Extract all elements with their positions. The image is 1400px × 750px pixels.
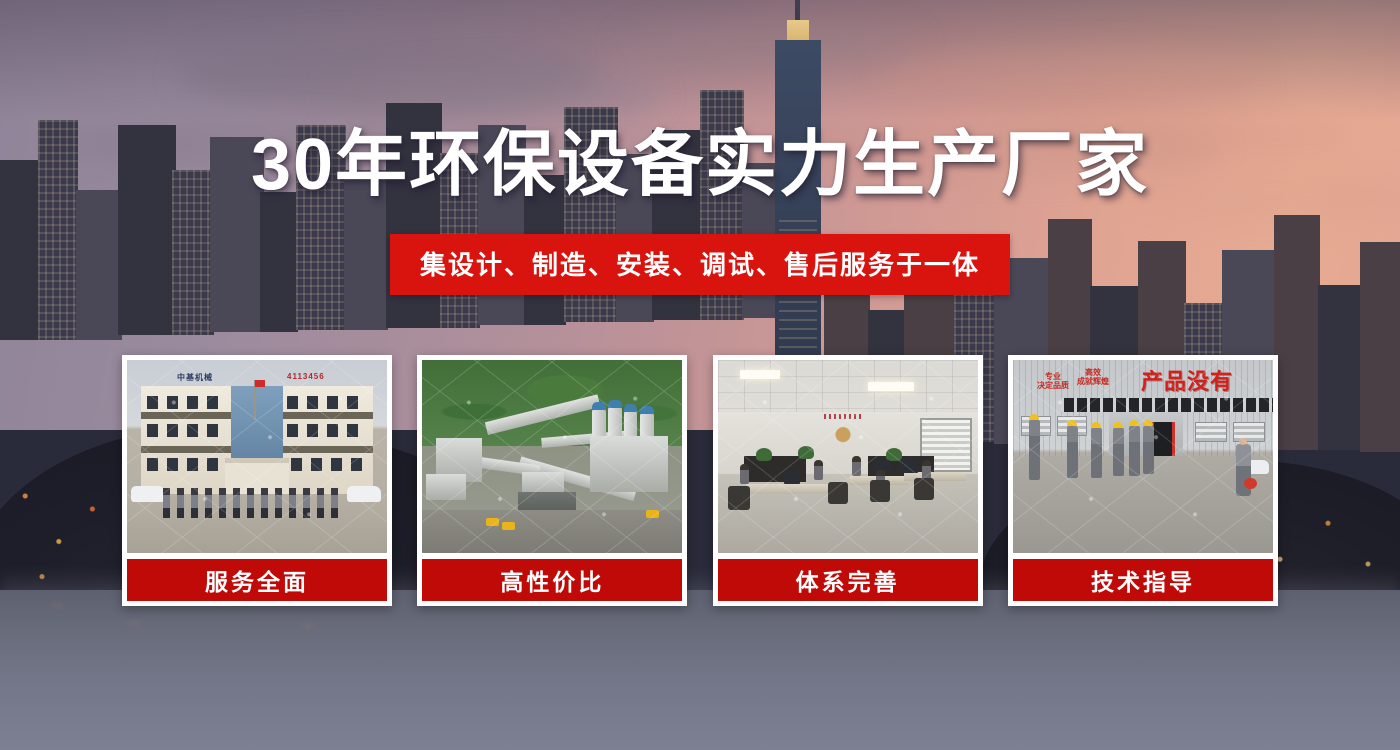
feature-card[interactable]: 体系完善 [713,355,983,606]
factory-slogan-2: 高效 成就辉煌 [1077,368,1109,386]
promo-banner: 30年环保设备实力生产厂家 集设计、制造、安装、调试、售后服务于一体 中基机械 [0,0,1400,750]
building-sign-text: 中基机械 [177,372,213,383]
company-headquarters-photo: 中基机械 4113456 [127,360,387,553]
card-label: 服务全面 [127,559,387,601]
office-interior-photo [718,360,978,553]
feature-card[interactable]: 高性价比 [417,355,687,606]
aerial-plant-photo [422,360,682,553]
feature-card-row: 中基机械 4113456 服务全面 [122,355,1278,606]
feature-card[interactable]: 产品没有 专业 决定品质 高效 成就辉煌 [1008,355,1278,606]
card-label: 技术指导 [1013,559,1273,601]
workers-training-photo: 产品没有 专业 决定品质 高效 成就辉煌 [1013,360,1273,553]
factory-slogan-1: 专业 决定品质 [1037,372,1069,390]
factory-wall-text: 产品没有 [1141,364,1233,396]
subtitle-banner: 集设计、制造、安装、调试、售后服务于一体 [390,234,1010,295]
card-label: 体系完善 [718,559,978,601]
card-label: 高性价比 [422,559,682,601]
feature-card[interactable]: 中基机械 4113456 服务全面 [122,355,392,606]
building-phone-text: 4113456 [287,372,325,381]
page-title: 30年环保设备实力生产厂家 [0,128,1400,204]
